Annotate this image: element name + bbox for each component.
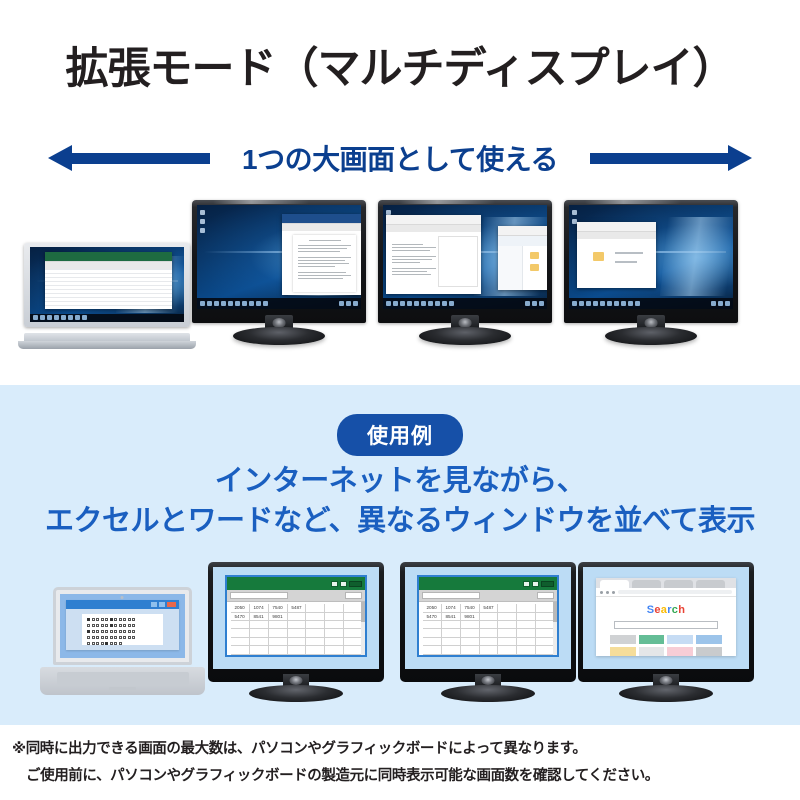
status-badge: 使用例: [337, 414, 463, 456]
table-row: [423, 646, 556, 654]
cell[interactable]: [325, 621, 344, 629]
scrollbar[interactable]: [361, 602, 365, 655]
name-box[interactable]: [422, 592, 480, 599]
explorer-body: [498, 246, 547, 290]
browser-tab[interactable]: [664, 580, 693, 588]
cell[interactable]: [480, 613, 499, 621]
cell[interactable]: [480, 638, 499, 646]
cell[interactable]: [498, 613, 517, 621]
cell[interactable]: [250, 638, 269, 646]
formula-bar[interactable]: [419, 590, 558, 602]
taskbar[interactable]: [197, 298, 361, 309]
browser-content: Search: [596, 597, 735, 656]
table-row: 5470 8541 9801: [423, 613, 556, 621]
spreadsheet-window: 2050 1074 7540 5487 5470 8541 9801: [225, 575, 368, 657]
taskbar[interactable]: [383, 298, 547, 309]
table-row: [423, 638, 556, 646]
cell[interactable]: 2050: [423, 604, 442, 612]
close-icon[interactable]: [349, 581, 362, 587]
cell[interactable]: [461, 621, 480, 629]
cell[interactable]: [250, 646, 269, 654]
minimize-icon[interactable]: [523, 581, 530, 587]
scrollbar[interactable]: [553, 602, 557, 655]
url-input[interactable]: [618, 590, 731, 594]
browser-tab[interactable]: [600, 580, 629, 588]
laptop-base: [40, 667, 205, 695]
keyboard[interactable]: [57, 672, 189, 685]
monitor-2: [378, 200, 552, 345]
explorer-window: [498, 226, 547, 290]
cell[interactable]: [306, 629, 325, 637]
cell[interactable]: [517, 621, 536, 629]
laptop-illustration: [40, 587, 205, 695]
cell[interactable]: [480, 629, 499, 637]
tile[interactable]: [696, 635, 722, 644]
cell[interactable]: [517, 638, 536, 646]
cell[interactable]: [517, 604, 536, 612]
cell[interactable]: [288, 638, 307, 646]
laptop-screen: [60, 594, 185, 658]
toolbar-field[interactable]: [345, 592, 362, 599]
spreadsheet-titlebar: [419, 577, 558, 590]
forward-icon[interactable]: [606, 591, 609, 594]
cell[interactable]: 5487: [288, 604, 307, 612]
cell[interactable]: 7540: [461, 604, 480, 612]
cell[interactable]: [325, 646, 344, 654]
cell[interactable]: [231, 638, 250, 646]
reload-icon[interactable]: [612, 591, 615, 594]
cell[interactable]: [461, 638, 480, 646]
cell[interactable]: [325, 604, 344, 612]
word-window: [282, 214, 361, 295]
formula-bar[interactable]: [227, 590, 366, 602]
footnote-line-1: ※同時に出力できる画面の最大数は、パソコンやグラフィックボードによって異なります…: [12, 737, 792, 758]
explorer-titlebar: [577, 222, 656, 232]
cell[interactable]: [231, 621, 250, 629]
document-titlebar: [386, 215, 481, 225]
cell[interactable]: [231, 629, 250, 637]
laptop-lid: [53, 587, 192, 665]
arrow-banner: 1つの大画面として使える: [0, 133, 800, 183]
cell[interactable]: [269, 629, 288, 637]
tile[interactable]: [610, 635, 636, 644]
document-body: [386, 232, 481, 294]
cell[interactable]: 5470: [423, 613, 442, 621]
cell[interactable]: [306, 621, 325, 629]
cell[interactable]: [325, 629, 344, 637]
minimize-icon[interactable]: [331, 581, 338, 587]
formula-input[interactable]: [291, 592, 342, 599]
laptop-excel: [24, 243, 190, 351]
cell[interactable]: [423, 646, 442, 654]
toolbar-field[interactable]: [537, 592, 554, 599]
arrow-caption: 1つの大画面として使える: [0, 133, 800, 183]
cell[interactable]: [250, 621, 269, 629]
footnote-line-2: ご使用前に、パソコンやグラフィックボードの製造元に同時表示可能な画面数を確認して…: [26, 764, 800, 785]
tile[interactable]: [610, 647, 636, 656]
lead-line-2: エクセルとワードなど、異なるウィンドウを並べて表示: [0, 497, 800, 539]
cell[interactable]: [288, 629, 307, 637]
cell[interactable]: 5487: [480, 604, 499, 612]
cell[interactable]: [269, 646, 288, 654]
table-row: [231, 629, 364, 637]
cell[interactable]: [461, 629, 480, 637]
table-row: 2050 1074 7540 5487: [231, 604, 364, 612]
cell[interactable]: [423, 629, 442, 637]
window-titlebar: [66, 600, 178, 609]
cell[interactable]: [498, 604, 517, 612]
browser-tab[interactable]: [632, 580, 661, 588]
cell[interactable]: 9801: [461, 613, 480, 621]
monitor-browser: Search: [578, 562, 754, 702]
cell[interactable]: [442, 638, 461, 646]
explorer-body: [577, 239, 656, 289]
word-page: [282, 231, 361, 295]
screen: 2050 1074 7540 5487 5470 8541 9801: [405, 567, 571, 669]
extended-mode-section: 拡張モード（マルチディスプレイ） 1つの大画面として使える: [0, 0, 800, 385]
cell[interactable]: [269, 621, 288, 629]
explorer-titlebar: [498, 226, 547, 236]
cell[interactable]: [480, 621, 499, 629]
back-icon[interactable]: [600, 591, 603, 594]
cell[interactable]: [517, 646, 536, 654]
cell[interactable]: 9801: [269, 613, 288, 621]
document-paper: [82, 614, 163, 645]
browser-window: Search: [596, 578, 735, 656]
excel-titlebar: [45, 252, 171, 262]
tile[interactable]: [667, 635, 693, 644]
browser-tab[interactable]: [696, 580, 725, 588]
taskbar[interactable]: [569, 298, 733, 309]
cell[interactable]: [442, 621, 461, 629]
monitor-3: [564, 200, 738, 345]
cell[interactable]: [442, 629, 461, 637]
cell[interactable]: [306, 646, 325, 654]
table-row: 5470 8541 9801: [231, 613, 364, 621]
monitor-sheet-2: 2050 1074 7540 5487 5470 8541 9801: [400, 562, 576, 702]
cell[interactable]: [288, 613, 307, 621]
cell[interactable]: [423, 621, 442, 629]
search-input[interactable]: [614, 621, 717, 629]
cell-grid[interactable]: 2050 1074 7540 5487 5470 8541 9801: [419, 602, 558, 655]
screen: 2050 1074 7540 5487 5470 8541 9801: [213, 567, 379, 669]
cell[interactable]: [306, 638, 325, 646]
tile[interactable]: [667, 647, 693, 656]
maximize-icon[interactable]: [340, 581, 347, 587]
cell[interactable]: [517, 613, 536, 621]
screen: Search: [583, 567, 749, 669]
promo-page: 拡張モード（マルチディスプレイ） 1つの大画面として使える: [0, 0, 800, 800]
cell[interactable]: [423, 638, 442, 646]
tile[interactable]: [639, 647, 665, 656]
cell[interactable]: 1074: [442, 604, 461, 612]
monitor-sheet-1: 2050 1074 7540 5487 5470 8541 9801: [208, 562, 384, 702]
excel-window: [45, 252, 171, 309]
cell[interactable]: [288, 646, 307, 654]
cell[interactable]: [498, 638, 517, 646]
spreadsheet-window: 2050 1074 7540 5487 5470 8541 9801: [417, 575, 560, 657]
tile[interactable]: [696, 647, 722, 656]
close-icon[interactable]: [167, 602, 176, 607]
cell[interactable]: [498, 646, 517, 654]
cell[interactable]: 1074: [250, 604, 269, 612]
logo-letter: h: [678, 604, 685, 616]
cell[interactable]: 2050: [231, 604, 250, 612]
cell[interactable]: 8541: [442, 613, 461, 621]
cell[interactable]: [325, 613, 344, 621]
close-icon[interactable]: [541, 581, 554, 587]
table-row: [231, 646, 364, 654]
document-window: [66, 600, 178, 650]
spreadsheet-titlebar: [227, 577, 366, 590]
cell[interactable]: [498, 621, 517, 629]
formula-input[interactable]: [483, 592, 534, 599]
minimize-icon[interactable]: [151, 602, 157, 607]
taskbar[interactable]: [30, 314, 184, 322]
name-box[interactable]: [230, 592, 288, 599]
monitor-1: [192, 200, 366, 345]
cell[interactable]: 5470: [231, 613, 250, 621]
trackpad[interactable]: [109, 687, 135, 691]
cell[interactable]: [517, 629, 536, 637]
cell[interactable]: [250, 629, 269, 637]
cell[interactable]: [442, 646, 461, 654]
cell[interactable]: 7540: [269, 604, 288, 612]
explorer-window: [577, 222, 656, 289]
excel-grid: [45, 269, 171, 309]
cell[interactable]: [306, 604, 325, 612]
cell[interactable]: [498, 629, 517, 637]
cell[interactable]: [231, 646, 250, 654]
search-logo: Search: [647, 604, 686, 616]
maximize-icon[interactable]: [532, 581, 539, 587]
table-row: [423, 621, 556, 629]
cell[interactable]: [269, 638, 288, 646]
cell[interactable]: [461, 646, 480, 654]
browser-tabstrip[interactable]: [596, 578, 735, 588]
document-canvas: [66, 609, 178, 650]
browser-urlbar[interactable]: [596, 588, 735, 596]
document-window: [386, 215, 481, 294]
tile-grid: [610, 635, 722, 656]
table-row: [231, 638, 364, 646]
webcam-icon: [121, 596, 124, 599]
cell[interactable]: [325, 638, 344, 646]
table-row: [231, 621, 364, 629]
cell[interactable]: [306, 613, 325, 621]
page-title: 拡張モード（マルチディスプレイ）: [0, 34, 800, 96]
table-row: [423, 629, 556, 637]
maximize-icon[interactable]: [159, 602, 165, 607]
cell-grid[interactable]: 2050 1074 7540 5487 5470 8541 9801: [227, 602, 366, 655]
cell[interactable]: [480, 646, 499, 654]
word-titlebar: [282, 214, 361, 224]
cell[interactable]: [288, 621, 307, 629]
table-row: 2050 1074 7540 5487: [423, 604, 556, 612]
tile[interactable]: [639, 635, 665, 644]
lead-line-1: インターネットを見ながら、: [0, 457, 800, 499]
cell[interactable]: 8541: [250, 613, 269, 621]
